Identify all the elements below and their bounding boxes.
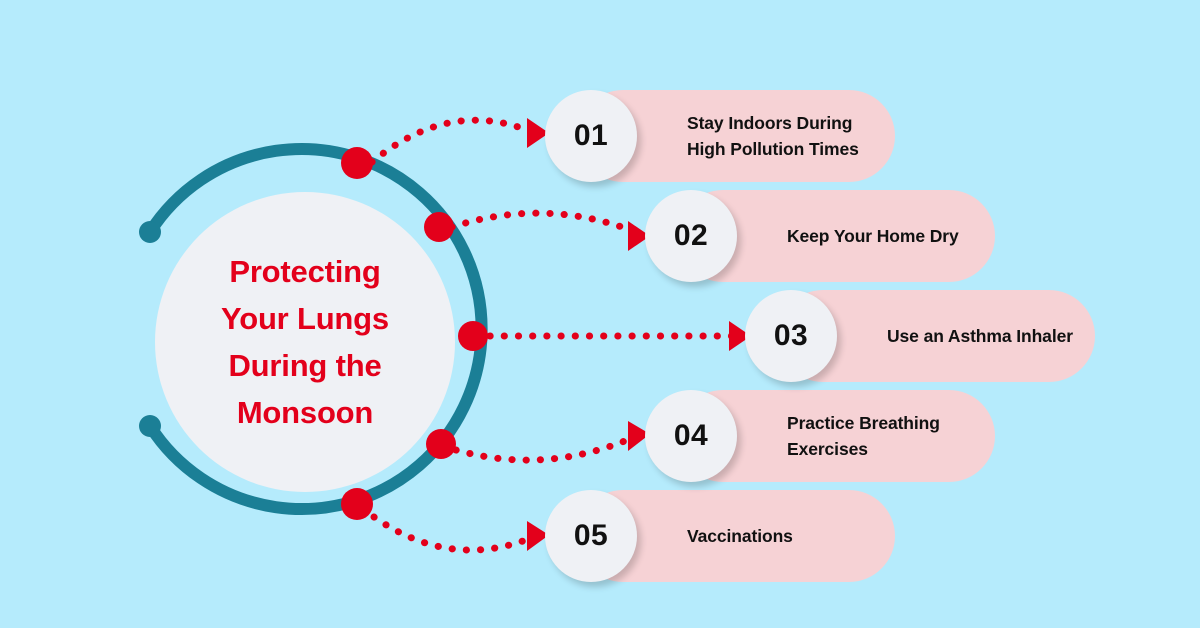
item-number-03: 03 — [774, 319, 808, 353]
item-label-02: Keep Your Home Dry — [787, 190, 997, 282]
item-label-05: Vaccinations — [687, 490, 897, 582]
dotted-connector-line-4 — [456, 438, 632, 460]
red-dot-node-5-icon — [341, 488, 373, 520]
red-dot-node-2-icon — [424, 212, 454, 242]
dotted-connector-line-2 — [452, 213, 636, 232]
item-number-05: 05 — [574, 519, 608, 553]
item-label-03: Use an Asthma Inhaler — [887, 290, 1115, 382]
infographic-canvas: Protecting Your Lungs During the Monsoon… — [0, 0, 1200, 628]
red-dot-node-3-icon — [458, 321, 488, 351]
red-dot-node-1-icon — [341, 147, 373, 179]
connector-2 — [452, 213, 650, 251]
item-number-01: 01 — [574, 119, 608, 153]
teal-round-cap-top-icon — [139, 221, 161, 243]
item-number-02: 02 — [674, 219, 708, 253]
item-number-04: 04 — [674, 419, 708, 453]
teal-round-cap-bottom-icon — [139, 415, 161, 437]
page-title: Protecting Your Lungs During the Monsoon — [173, 248, 437, 436]
item-badge-04: 04 — [645, 390, 737, 482]
connector-3 — [490, 321, 751, 351]
dotted-connector-line-5 — [374, 517, 531, 550]
item-badge-05: 05 — [545, 490, 637, 582]
item-badge-01: 01 — [545, 90, 637, 182]
item-label-01: Stay Indoors During High Pollution Times — [687, 90, 897, 182]
item-badge-02: 02 — [645, 190, 737, 282]
connector-4 — [456, 421, 650, 460]
item-label-04: Practice Breathing Exercises — [787, 390, 997, 482]
dotted-connector-line-1 — [372, 120, 532, 162]
connector-5 — [374, 517, 549, 551]
connector-1 — [372, 118, 549, 162]
item-badge-03: 03 — [745, 290, 837, 382]
hub-circle: Protecting Your Lungs During the Monsoon — [155, 192, 455, 492]
